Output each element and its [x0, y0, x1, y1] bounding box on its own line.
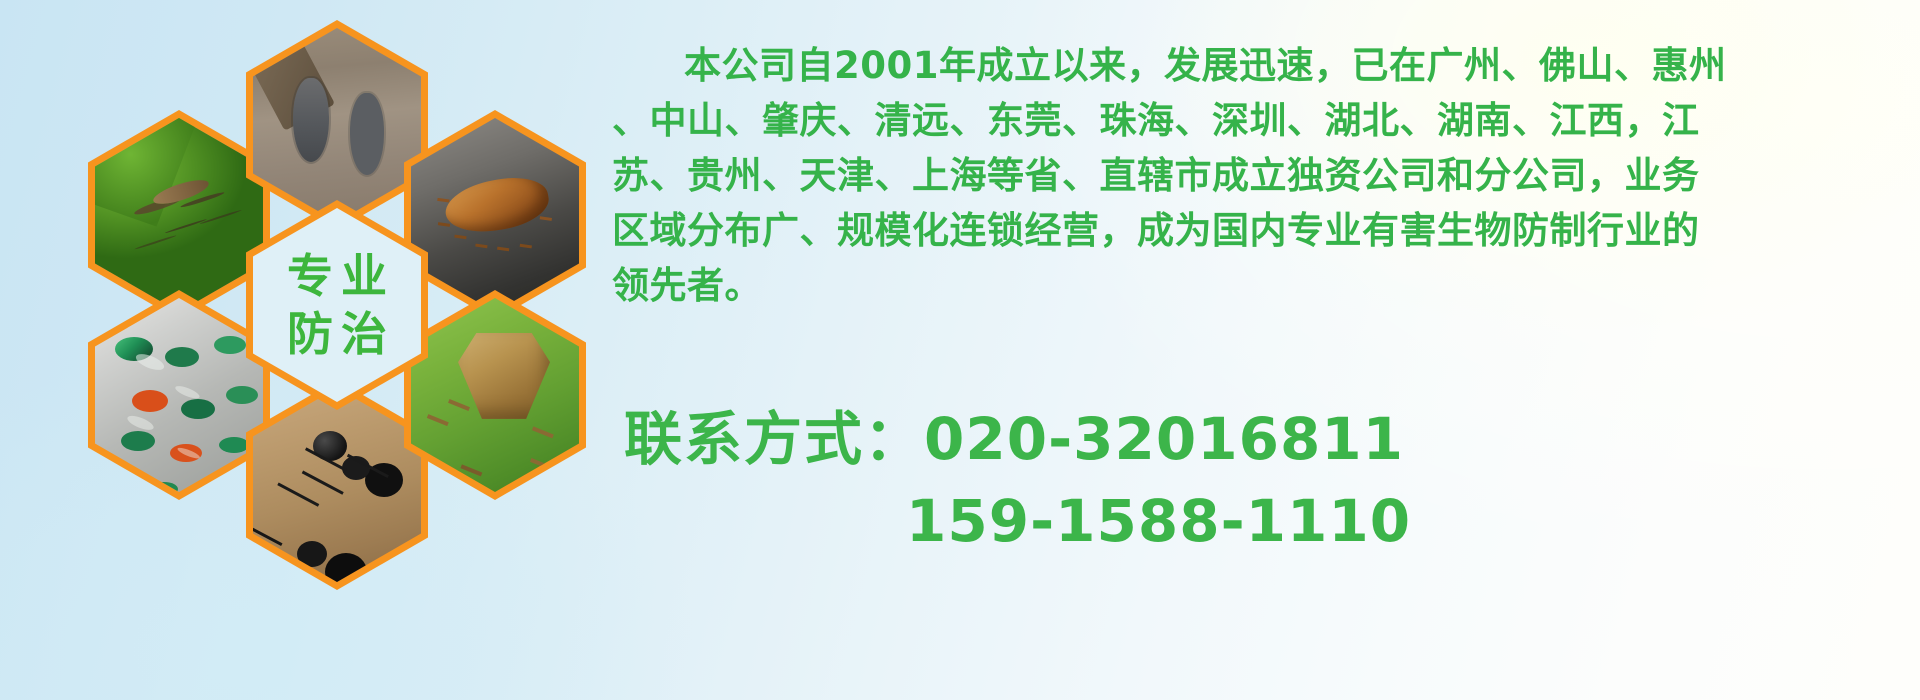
hex-cell-mosquito [88, 110, 270, 320]
hex-cell-ant [246, 380, 428, 590]
promo-banner: 专业 防治 本公司自2001年成立以来，发展迅速，已在广州、佛山、惠州 、中山、… [0, 0, 1920, 700]
contact-primary-row: 联系方式：020-32016811 [624, 398, 1411, 480]
company-intro-paragraph: 本公司自2001年成立以来，发展迅速，已在广州、佛山、惠州 、中山、肇庆、清远、… [612, 38, 1912, 313]
hex-inner-stinkbug [411, 298, 579, 492]
hex-cell-cockroach [404, 110, 586, 320]
slogan-line-1: 专业 [279, 252, 395, 300]
hex-inner-ant [253, 388, 421, 582]
flies-photo [95, 298, 263, 492]
contact-phone-primary[interactable]: 020-32016811 [924, 405, 1404, 473]
slogan-line-2: 防治 [279, 310, 395, 358]
hex-cell-slogan: 专业 防治 [246, 200, 428, 410]
contact-block: 联系方式：020-32016811 159-1588-1110 [624, 398, 1411, 562]
intro-line-3: 苏、贵州、天津、上海等省、直辖市成立独资公司和分公司，业务 [612, 148, 1912, 203]
hex-cell-stinkbug [404, 290, 586, 500]
hex-inner-slogan: 专业 防治 [253, 208, 421, 402]
hex-inner-rodent [253, 28, 421, 222]
mosquito-photo [95, 118, 263, 312]
contact-secondary-row: 159-1588-1110 [624, 480, 1411, 562]
contact-label: 联系方式： [624, 405, 924, 473]
rodent-photo [253, 28, 421, 222]
intro-line-1: 本公司自2001年成立以来，发展迅速，已在广州、佛山、惠州 [612, 38, 1912, 93]
hex-cell-flies [88, 290, 270, 500]
hex-inner-mosquito [95, 118, 263, 312]
intro-line-4: 区域分布广、规模化连锁经营，成为国内专业有害生物防制行业的 [612, 203, 1912, 258]
honeycomb-collage: 专业 防治 [88, 0, 608, 574]
hex-cell-rodent [246, 20, 428, 230]
stinkbug-photo [411, 298, 579, 492]
hex-inner-cockroach [411, 118, 579, 312]
banner-content: 本公司自2001年成立以来，发展迅速，已在广州、佛山、惠州 、中山、肇庆、清远、… [612, 0, 1920, 700]
hex-inner-flies [95, 298, 263, 492]
cockroach-photo [411, 118, 579, 312]
contact-phone-secondary[interactable]: 159-1588-1110 [906, 487, 1411, 555]
intro-line-2: 、中山、肇庆、清远、东莞、珠海、深圳、湖北、湖南、江西，江 [612, 93, 1912, 148]
intro-line-5: 领先者。 [612, 258, 1912, 313]
ant-photo [253, 388, 421, 582]
